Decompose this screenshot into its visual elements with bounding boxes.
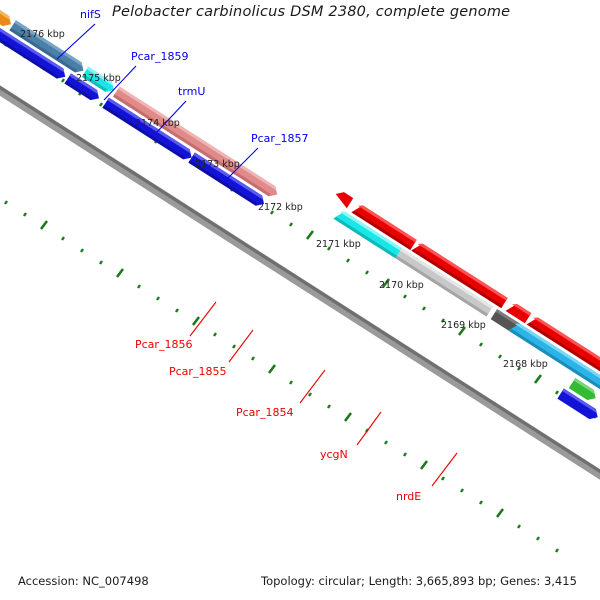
ruler-tick-label: 2168 kbp bbox=[503, 359, 548, 370]
sequence-backbone[interactable] bbox=[0, 62, 600, 500]
gene-label-Pcar_1857[interactable]: Pcar_1857 bbox=[251, 132, 308, 145]
reverse-strand-features[interactable] bbox=[324, 189, 600, 397]
ruler-tick-label: 2176 kbp bbox=[20, 29, 65, 40]
page-title: Pelobacter carbinolicus DSM 2380, comple… bbox=[112, 4, 510, 20]
gene-feature-orange[interactable] bbox=[0, 6, 14, 29]
gene-label-nrdE[interactable]: nrdE bbox=[396, 490, 421, 503]
leader-Pcar_1855 bbox=[229, 330, 253, 362]
leader-nrdE bbox=[432, 453, 457, 486]
gene-label-ycgN[interactable]: ycgN bbox=[320, 448, 348, 461]
accession-text: Accession: NC_007498 bbox=[18, 574, 149, 588]
ruler-tick-label: 2170 kbp bbox=[379, 280, 424, 291]
gene-label-Pcar_1855[interactable]: Pcar_1855 bbox=[169, 365, 226, 378]
status-bar: Accession: NC_007498 Topology: circular;… bbox=[0, 566, 600, 600]
ruler-tick-label: 2171 kbp bbox=[316, 239, 361, 250]
gene-label-Pcar_1859[interactable]: Pcar_1859 bbox=[131, 50, 188, 63]
gene-feature-red-tip[interactable] bbox=[332, 189, 353, 208]
ruler-tick-label: 2175 kbp bbox=[76, 73, 121, 84]
leader-ycgN bbox=[357, 412, 381, 445]
leader-Pcar_1854 bbox=[300, 370, 325, 403]
ruler-tick-label: 2169 kbp bbox=[441, 320, 486, 331]
gene-label-Pcar_1854[interactable]: Pcar_1854 bbox=[236, 406, 293, 419]
ruler-tick-label: 2174 kbp bbox=[135, 118, 180, 129]
ruler-tick-marks bbox=[0, 40, 598, 577]
gene-label-Pcar_1856[interactable]: Pcar_1856 bbox=[135, 338, 192, 351]
genome-map-canvas[interactable] bbox=[0, 0, 600, 600]
ruler-tick-label: 2173 kbp bbox=[195, 159, 240, 170]
gene-label-trmU[interactable]: trmU bbox=[178, 85, 205, 98]
genome-viewer[interactable]: Pelobacter carbinolicus DSM 2380, comple… bbox=[0, 0, 600, 600]
leader-Pcar_1856 bbox=[190, 302, 216, 336]
gene-label-nifS[interactable]: nifS bbox=[80, 8, 101, 21]
topology-text: Topology: circular; Length: 3,665,893 bp… bbox=[261, 574, 577, 588]
ruler-tick-label: 2172 kbp bbox=[258, 202, 303, 213]
